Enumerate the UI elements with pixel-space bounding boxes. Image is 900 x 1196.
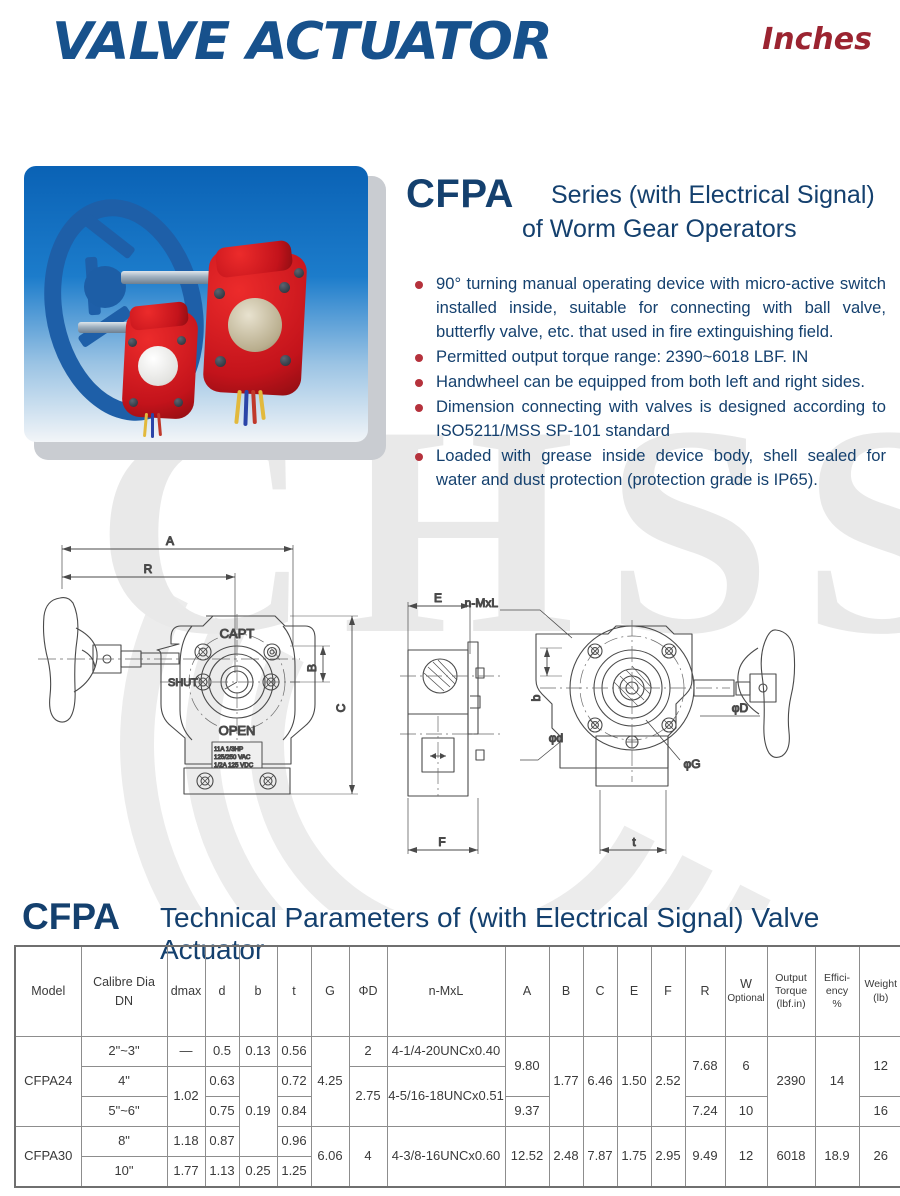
cell-dn: 2"~3" [81,1037,167,1067]
drawing-label-phid: φd [549,731,563,745]
bolt [294,268,304,278]
cell-B: 2.48 [549,1127,583,1188]
product-photo [24,166,376,450]
cell-t: 1.25 [277,1157,311,1188]
wire [151,413,154,438]
cell-t: 0.72 [277,1067,311,1097]
cell-d: 0.87 [205,1127,239,1157]
cell-G: 4.25 [311,1037,349,1127]
cell-nmxl: 4-3/8-16UNCx0.60 [387,1127,505,1188]
cell-efficiency: 14 [815,1037,859,1127]
cell-t: 0.84 [277,1097,311,1127]
drawing-label-nmxl: n-MxL [465,596,499,610]
indicator-dial-large [228,298,282,352]
cell-A: 9.80 [505,1037,549,1097]
product-code: CFPA [406,172,514,217]
col-PhiD: ΦD [349,946,387,1037]
cell-model: CFPA30 [15,1127,81,1188]
svg-text:t: t [632,835,636,849]
cell-G: 6.06 [311,1127,349,1188]
col-d: d [205,946,239,1037]
product-series-line1: Series (with Electrical Signal) [551,181,875,210]
cell-PhiD: 2.75 [349,1067,387,1127]
col-torque-line3: (lbf.in) [768,998,815,1011]
cell-efficiency: 18.9 [815,1127,859,1188]
cell-dmax: 1.02 [167,1067,205,1127]
col-B: B [549,946,583,1037]
drawing-label-shut: SHUT [168,677,198,689]
cell-A: 12.52 [505,1127,549,1188]
col-torque-line1: Output [768,972,815,985]
cell-d: 1.13 [205,1157,239,1188]
feature-item: Dimension connecting with valves is desi… [408,395,886,443]
cell-d: 0.63 [205,1067,239,1097]
feature-item: Loaded with grease inside device body, s… [408,444,886,492]
table-row: CFPA30 8" 1.18 0.87 0.96 6.06 4 4-3/8-16… [15,1127,900,1157]
drawing-label-capt: CAPT [220,626,255,641]
table-header-row: Model Calibre Dia DN dmax d b t G ΦD n-M… [15,946,900,1037]
col-t: t [277,946,311,1037]
col-W-line2: Optional [726,993,767,1006]
col-calibre-dn: Calibre Dia DN [81,946,167,1037]
drawing-label-phiD: φD [732,701,749,715]
col-E: E [617,946,651,1037]
feature-list: 90° turning manual operating device with… [408,272,886,493]
technical-drawing: A R CAPT SHUT OPEN 11A 1/3HP 125/25 [0,520,900,890]
svg-text:R: R [144,562,153,576]
cell-dmax: — [167,1037,205,1067]
cell-dmax: 1.18 [167,1127,205,1157]
col-b: b [239,946,277,1037]
cell-C: 6.46 [583,1037,617,1127]
col-A: A [505,946,549,1037]
cell-weight: 16 [859,1097,900,1127]
bolt [174,398,183,407]
svg-text:A: A [166,534,174,548]
cell-C: 7.87 [583,1127,617,1188]
cell-W: 12 [725,1127,767,1188]
col-weight-line2: (lb) [860,992,900,1005]
svg-text:11A 1/3HP: 11A 1/3HP [214,746,243,753]
cell-F: 2.52 [651,1037,685,1127]
wire [143,413,148,437]
cell-b: 0.13 [239,1037,277,1067]
drawing-label-open: OPEN [219,723,256,738]
svg-text:B: B [305,664,319,672]
cell-torque: 6018 [767,1127,815,1188]
cell-W: 6 [725,1037,767,1097]
svg-text:C: C [334,703,348,712]
cell-b: 0.25 [239,1157,277,1188]
col-dmax: dmax [167,946,205,1037]
cell-d: 0.5 [205,1037,239,1067]
cell-t: 0.96 [277,1127,311,1157]
unit-label: Inches [762,22,872,57]
cell-W: 10 [725,1097,767,1127]
cell-PhiD: 4 [349,1127,387,1188]
svg-text:125/250 VAC: 125/250 VAC [214,754,251,761]
col-calibre-line2: DN [82,992,167,1010]
col-eff-line3: % [816,998,859,1011]
col-eff-line2: ency [816,985,859,998]
product-series-line2: of Worm Gear Operators [522,215,797,244]
bolt [177,336,186,345]
photo-frame [24,166,368,442]
cell-R: 7.24 [685,1097,725,1127]
col-F: F [651,946,685,1037]
cell-dn: 8" [81,1127,167,1157]
page-title: VALVE ACTUATOR [52,12,552,72]
cell-E: 1.50 [617,1037,651,1127]
indicator-dial-small [138,346,178,386]
table-row: CFPA24 2"~3" — 0.5 0.13 0.56 4.25 2 4-1/… [15,1037,900,1067]
feature-item: 90° turning manual operating device with… [408,272,886,344]
cell-d: 0.75 [205,1097,239,1127]
cell-dmax: 1.77 [167,1157,205,1188]
cell-b: 0.19 [239,1067,277,1157]
col-output-torque: Output Torque (lbf.in) [767,946,815,1037]
cell-dn: 10" [81,1157,167,1188]
col-G: G [311,946,349,1037]
wire [243,390,248,426]
feature-item: Handwheel can be equipped from both left… [408,370,886,394]
cell-dn: 5"~6" [81,1097,167,1127]
col-calibre-line1: Calibre Dia [82,973,167,991]
col-weight: Weight (lb) [859,946,900,1037]
feature-item: Permitted output torque range: 2390~6018… [408,345,886,369]
col-eff-line1: Effici- [816,972,859,985]
wire [251,390,257,424]
svg-text:E: E [434,591,442,605]
cell-A: 9.37 [505,1097,549,1127]
cell-nmxl: 4-5/16-18UNCx0.51 [387,1067,505,1127]
col-W-optional: W Optional [725,946,767,1037]
cell-t: 0.56 [277,1037,311,1067]
col-W-line1: W [726,977,767,993]
wire [234,390,242,424]
cell-R: 7.68 [685,1037,725,1097]
col-R: R [685,946,725,1037]
col-efficiency: Effici- ency % [815,946,859,1037]
bolt [215,356,226,367]
col-C: C [583,946,617,1037]
table-title-code: CFPA [22,896,120,938]
cell-E: 1.75 [617,1127,651,1188]
bolt [128,338,137,347]
col-model: Model [15,946,81,1037]
cell-model: CFPA24 [15,1037,81,1127]
svg-text:b: b [529,694,543,701]
bolt [280,355,291,366]
cell-PhiD: 2 [349,1037,387,1067]
bolt [214,288,225,299]
col-nmxl: n-MxL [387,946,505,1037]
cell-weight: 12 [859,1037,900,1097]
col-torque-line2: Torque [768,985,815,998]
cell-R: 9.49 [685,1127,725,1188]
cell-weight: 26 [859,1127,900,1188]
svg-text:F: F [438,835,445,849]
spec-table: Model Calibre Dia DN dmax d b t G ΦD n-M… [14,945,900,1188]
cell-dn: 4" [81,1067,167,1097]
bolt [279,282,290,293]
drawing-label-phiG: φG [683,757,700,771]
cell-torque: 2390 [767,1037,815,1127]
cell-nmxl: 4-1/4-20UNCx0.40 [387,1037,505,1067]
cell-F: 2.95 [651,1127,685,1188]
handwheel-hub [84,266,126,308]
col-weight-line1: Weight [860,978,900,991]
bolt [129,398,138,407]
cell-B: 1.77 [549,1037,583,1127]
